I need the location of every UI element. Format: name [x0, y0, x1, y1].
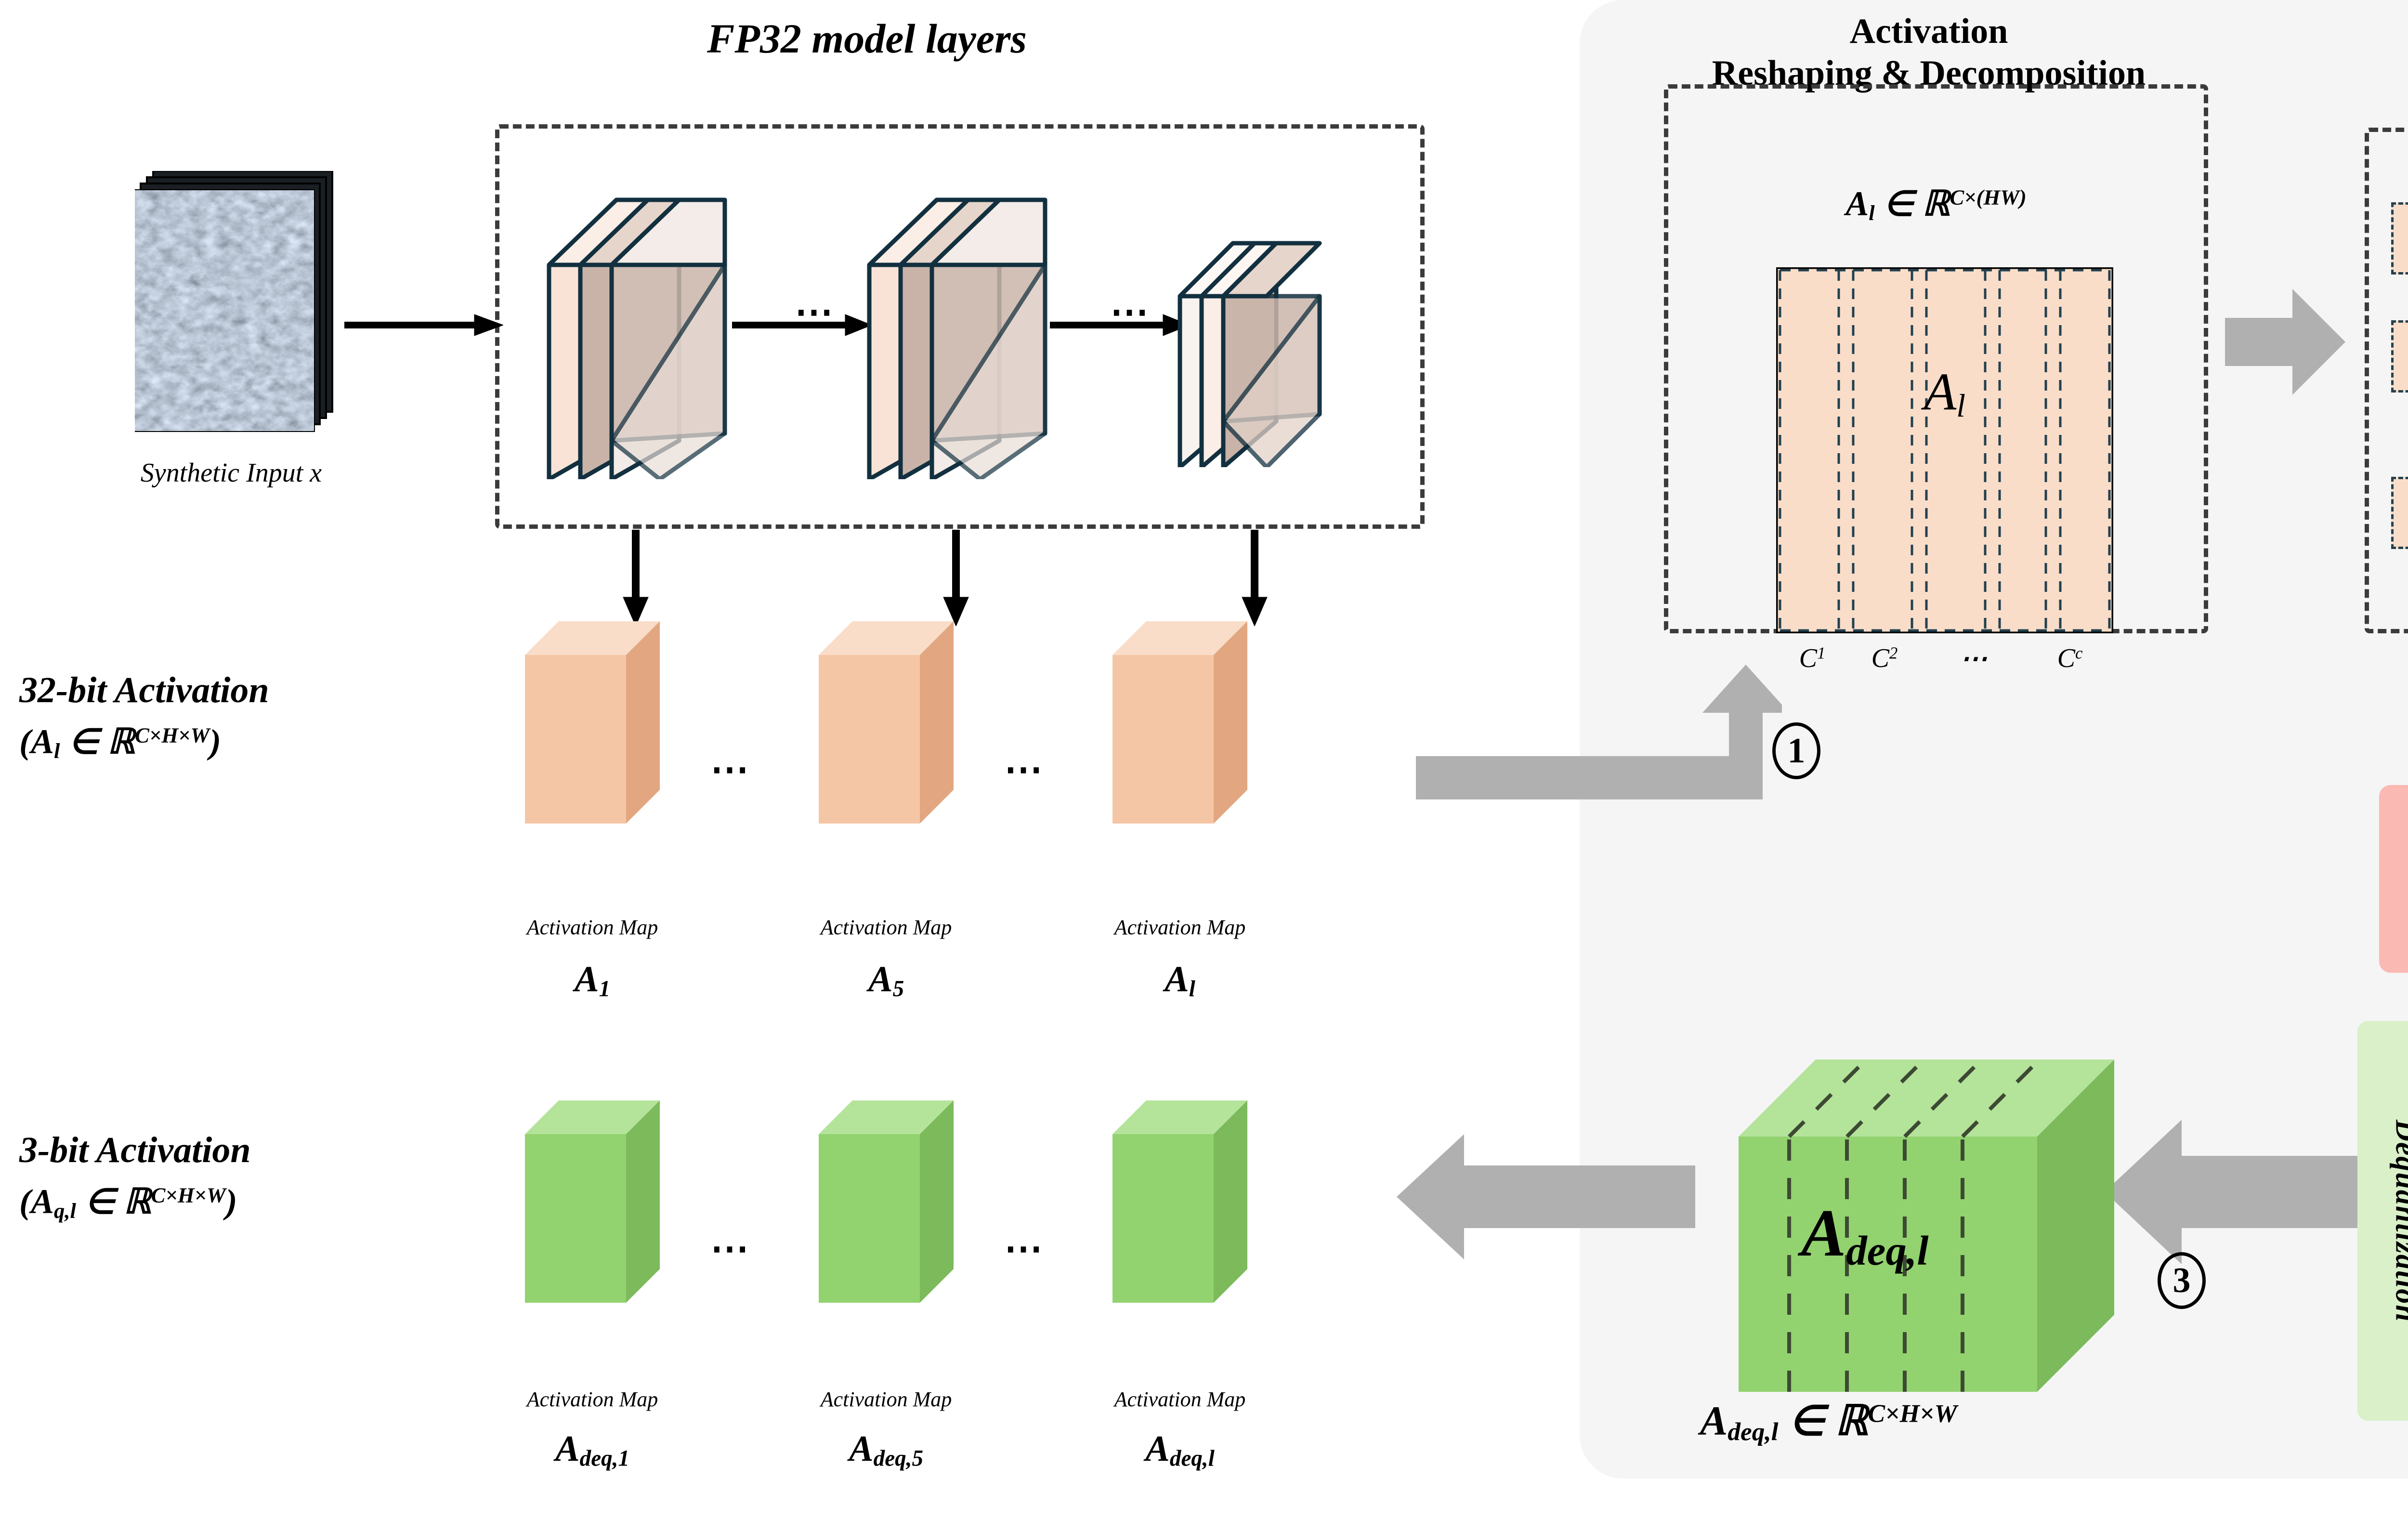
reshape-formula-sup: C×(HW): [1950, 185, 2026, 209]
activation-map-name-2-sub: 5: [893, 976, 904, 1001]
deq-cuboid-2: [819, 1100, 954, 1305]
deq-map-name-2-sub: deq,5: [874, 1446, 923, 1471]
activation-map-name-2: A5: [775, 958, 997, 1002]
adeq-cube-label-A: A: [1801, 1196, 1846, 1270]
label-32bit-sup: C×H×W: [135, 723, 209, 747]
activation-map-name-3: Al: [1069, 958, 1291, 1002]
reshape-to-vectorization-arrow: [2225, 289, 2345, 395]
panel-title-vectorization: Scaling Range Vectorization: [2336, 51, 2408, 92]
scaling-factor-zero-point-box[interactable]: Scaling Factor & Zero-Point Computation: [2379, 785, 2408, 973]
vectorization-source-label-3: Cc: [2391, 477, 2408, 549]
reshape-formula: Al ∈ ℝC×(HW): [1695, 183, 2177, 225]
label-32bit-in: ∈ ℝ: [60, 722, 135, 761]
activation-map-name-2-base: A: [868, 959, 893, 999]
reshape-matrix: [1776, 267, 2113, 633]
label-3bit-activation: 3-bit Activation (Aq,l ∈ ℝC×H×W): [19, 1129, 453, 1224]
deq-map-name-3: Adeq,l: [1069, 1428, 1291, 1471]
label-32bit-line2: (Al ∈ ℝC×H×W): [19, 722, 443, 763]
deq-cuboid-3: [1112, 1100, 1247, 1305]
reshape-col-label-2-sup: 2: [1889, 644, 1898, 663]
reshape-col-label-2: C2: [1848, 643, 1921, 674]
activation-map-name-1: A1: [482, 958, 703, 1002]
reshape-col-label-4-sup: c: [2075, 644, 2082, 663]
activation-ellipsis-2: ⋯: [982, 746, 1064, 792]
adeq-cube-caption: Adeq,l ∈ ℝC×H×W: [1700, 1397, 2278, 1447]
vectorization-source-label-1: C1: [2391, 202, 2408, 275]
reshape-matrix-label-sub: l: [1956, 387, 1965, 424]
deq-map-name-1: Adeq,1: [482, 1428, 703, 1471]
deq-ellipsis-1: ⋯: [689, 1226, 771, 1271]
activation-map-caption-1: Activation Map: [482, 915, 703, 940]
label-3bit-suffix: ): [226, 1182, 237, 1221]
adeq-cube-label: Adeq,l: [1801, 1194, 1929, 1275]
step1-gray-arrow: [1416, 665, 1782, 867]
deq-map-caption-1: Activation Map: [482, 1387, 703, 1412]
reshape-formula-sub: l: [1869, 201, 1874, 225]
reshape-col-label-1: C1: [1776, 643, 1848, 674]
activation-map-name-1-base: A: [575, 959, 599, 999]
step-marker-1: ①1: [1772, 722, 1820, 779]
reshape-col-label-4: Cc: [2027, 643, 2113, 674]
reshape-col-label-1-sup: 1: [1817, 644, 1825, 663]
deq-map-name-1-base: A: [555, 1428, 580, 1469]
deq-map-caption-3: Activation Map: [1069, 1387, 1291, 1412]
label-32bit-suffix: ): [209, 722, 221, 761]
layer1-down-arrow: [621, 530, 650, 626]
fp32-layer-slab-2: [864, 171, 1072, 479]
label-3bit-sub: q,l: [54, 1199, 76, 1223]
reshape-formula-A: A: [1845, 184, 1869, 223]
layer2-down-arrow: [942, 530, 970, 626]
deq-map-name-3-sub: deq,l: [1170, 1446, 1215, 1471]
deq-ellipsis-2: ⋯: [982, 1226, 1064, 1271]
page-title-fp32-model-layers: FP32 model layers: [554, 14, 1180, 63]
activation-cuboid-al: [1112, 621, 1247, 826]
label-32bit-activation: 32-bit Activation (Al ∈ ℝC×H×W): [19, 669, 443, 764]
layer3-down-arrow: [1240, 530, 1269, 626]
vectorization-source-label-2: C2: [2391, 320, 2408, 393]
deq-cuboid-1: [525, 1100, 660, 1305]
activation-cuboid-a1: [525, 621, 660, 826]
label-3bit-line1: 3-bit Activation: [19, 1129, 453, 1171]
dequantization-bar[interactable]: Dequantization: [2357, 1021, 2408, 1421]
adeq-caption-sub: deq,l: [1727, 1417, 1778, 1446]
deq-map-name-2-base: A: [849, 1428, 874, 1469]
vectorization-source-vdots: ⋮: [2391, 412, 2408, 436]
input-to-layer-arrow: [344, 311, 503, 340]
deq-map-name-2: Adeq,5: [775, 1428, 997, 1471]
deq-map-name-3-base: A: [1145, 1428, 1170, 1469]
adeq-caption-sup: C×H×W: [1868, 1399, 1957, 1427]
panel-title-reshaping: Activation Reshaping & Decomposition: [1609, 11, 2249, 95]
reshape-col-labels: C1 C2 ⋯ Cc: [1776, 643, 2113, 674]
step-marker-3: 3: [2158, 1252, 2206, 1309]
label-3bit-sup: C×H×W: [151, 1183, 226, 1207]
adeq-caption-in: ∈ ℝ: [1779, 1398, 1868, 1444]
reshape-col-label-1-base: C: [1799, 643, 1817, 673]
reshape-matrix-label: Al: [1776, 361, 2113, 425]
fp32-layer-slab-1: [544, 171, 751, 479]
activation-map-name-1-sub: 1: [599, 976, 611, 1001]
panel-title-reshaping-line1: Activation: [1609, 11, 2249, 52]
adeq-cube-label-sub: deq,l: [1846, 1228, 1928, 1274]
label-3bit-prefix: (A: [19, 1182, 54, 1221]
label-32bit-prefix: (A: [19, 722, 54, 761]
dequantization-label: Dequantization: [2389, 1120, 2408, 1322]
label-32bit-line1: 32-bit Activation: [19, 669, 443, 711]
deq-output-left-arrow: [1397, 1134, 1695, 1259]
layer1-to-layer2-arrow: [732, 311, 872, 340]
activation-map-caption-2: Activation Map: [775, 915, 997, 940]
adeq-caption-A: A: [1700, 1398, 1727, 1444]
fp32-layer-slab-3: [1175, 217, 1344, 467]
activation-ellipsis-1: ⋯: [689, 746, 771, 792]
label-3bit-line2: (Aq,l ∈ ℝC×H×W): [19, 1182, 453, 1223]
deq-map-name-1-sub: deq,1: [580, 1446, 629, 1471]
synthetic-input-stack: [135, 171, 337, 443]
reshape-col-label-ellipsis: ⋯: [1921, 643, 2027, 674]
activation-map-caption-3: Activation Map: [1069, 915, 1291, 940]
deq-map-caption-2: Activation Map: [775, 1387, 997, 1412]
reshape-col-label-4-base: C: [2057, 643, 2075, 673]
activation-cuboid-a5: [819, 621, 954, 826]
label-32bit-sub: l: [54, 739, 60, 763]
layer2-to-layer3-arrow: [1050, 311, 1190, 340]
label-3bit-in: ∈ ℝ: [76, 1182, 151, 1221]
activation-map-name-3-sub: l: [1189, 976, 1195, 1001]
synthetic-input-caption: Synthetic Input x: [87, 458, 376, 488]
activation-map-name-3-base: A: [1165, 959, 1189, 999]
reshape-formula-in: ∈ ℝ: [1875, 184, 1950, 223]
reshape-matrix-label-A: A: [1924, 362, 1956, 421]
reshape-col-label-2-base: C: [1871, 643, 1889, 673]
